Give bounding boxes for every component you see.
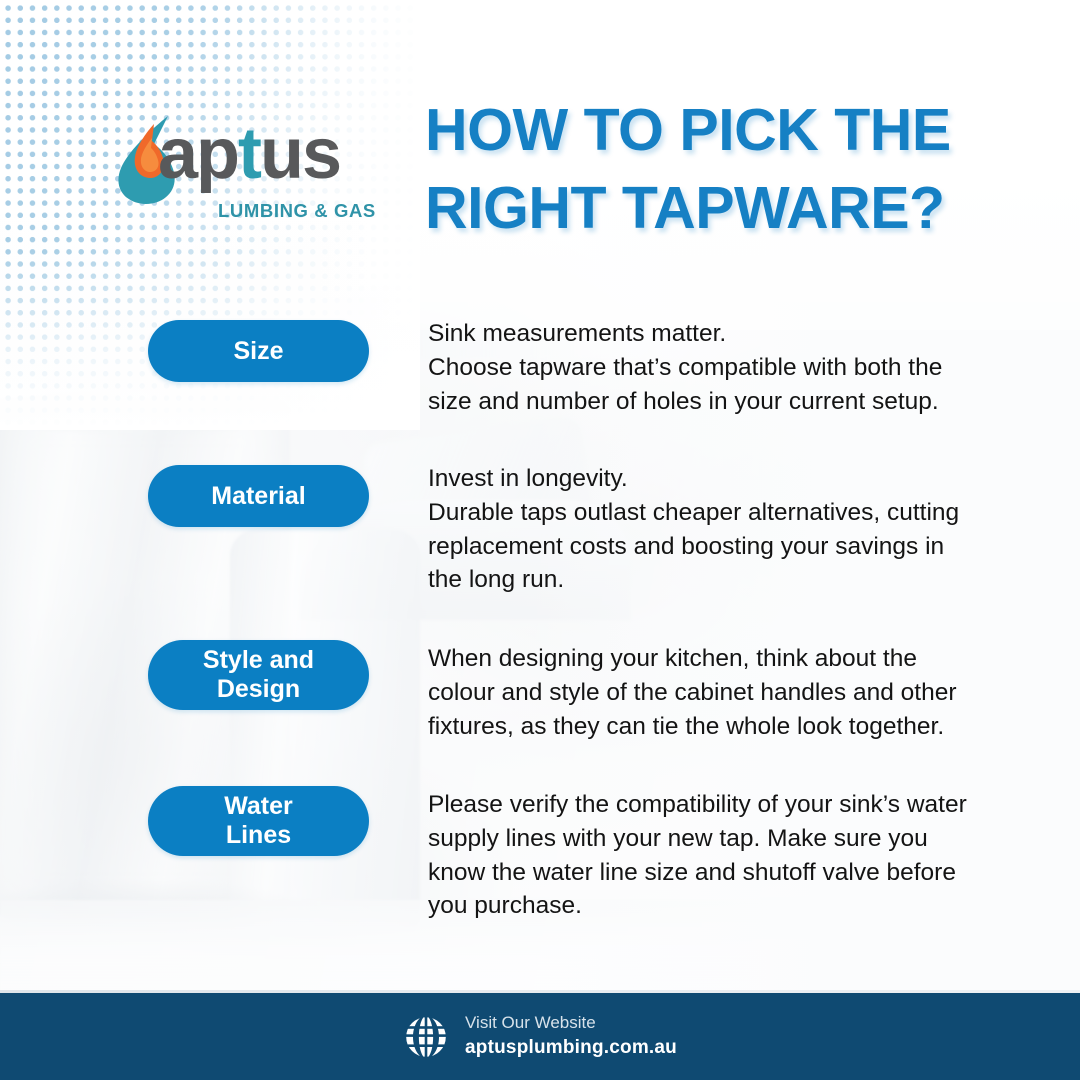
globe-icon xyxy=(403,1014,449,1060)
page-title-line-2: RIGHT TAPWARE? xyxy=(425,170,1025,248)
logo-letters-us: us xyxy=(260,114,340,194)
infographic-poster: aptus LUMBING & GAS HOW TO PICK THE RIGH… xyxy=(0,0,1080,1080)
tip-body-size: Sink measurements matter. Choose tapware… xyxy=(428,317,1028,418)
footer-website-url[interactable]: aptusplumbing.com.au xyxy=(465,1035,677,1061)
tip-body-material-line-1: Invest in longevity. xyxy=(428,462,1028,496)
tip-label-water-lines[interactable]: Water Lines xyxy=(148,786,369,856)
tip-body-size-line-2: Choose tapware that’s compatible with bo… xyxy=(428,351,1028,385)
page-title-line-1: HOW TO PICK THE xyxy=(425,92,1025,170)
tip-label-water-line-2: Lines xyxy=(226,821,291,850)
logo-letter-p: p xyxy=(196,114,238,194)
tip-label-style-line-1: Style and xyxy=(203,646,314,675)
tip-body-material-line-3: replacement costs and boosting your savi… xyxy=(428,530,1028,564)
logo-subtitle: LUMBING & GAS xyxy=(218,200,376,222)
tip-label-water-line-1: Water xyxy=(224,792,293,821)
tip-body-size-line-3: size and number of holes in your current… xyxy=(428,385,1028,419)
tip-body-material: Invest in longevity. Durable taps outlas… xyxy=(428,462,1028,597)
tip-body-water-line-4: you purchase. xyxy=(428,889,1028,923)
tip-body-size-line-1: Sink measurements matter. xyxy=(428,317,1028,351)
tip-label-size[interactable]: Size xyxy=(148,320,369,382)
tip-label-style-line-2: Design xyxy=(217,675,300,704)
tip-body-style-line-2: colour and style of the cabinet handles … xyxy=(428,676,1028,710)
tip-label-size-text: Size xyxy=(233,337,283,366)
tip-label-material-text: Material xyxy=(211,482,305,511)
logo-letter-a: a xyxy=(158,114,196,194)
page-title: HOW TO PICK THE RIGHT TAPWARE? xyxy=(425,92,1025,248)
tip-label-material[interactable]: Material xyxy=(148,465,369,527)
footer-cta-label: Visit Our Website xyxy=(465,1012,677,1035)
tip-body-material-line-2: Durable taps outlast cheaper alternative… xyxy=(428,496,1028,530)
tip-body-water-line-3: know the water line size and shutoff val… xyxy=(428,856,1028,890)
tip-body-style-line-3: fixtures, as they can tie the whole look… xyxy=(428,710,1028,744)
tip-body-water-lines: Please verify the compatibility of your … xyxy=(428,788,1028,923)
aptus-logo: aptus LUMBING & GAS xyxy=(110,112,380,220)
tip-body-style-line-1: When designing your kitchen, think about… xyxy=(428,642,1028,676)
logo-wordmark: aptus xyxy=(158,118,340,190)
tip-label-style-and-design[interactable]: Style and Design xyxy=(148,640,369,710)
logo-letter-t: t xyxy=(238,114,260,194)
tip-body-material-line-4: the long run. xyxy=(428,563,1028,597)
footer-bar: Visit Our Website aptusplumbing.com.au xyxy=(0,993,1080,1080)
footer-website-block[interactable]: Visit Our Website aptusplumbing.com.au xyxy=(465,1012,677,1061)
tip-body-water-line-2: supply lines with your new tap. Make sur… xyxy=(428,822,1028,856)
tip-body-water-line-1: Please verify the compatibility of your … xyxy=(428,788,1028,822)
tip-body-style-and-design: When designing your kitchen, think about… xyxy=(428,642,1028,743)
